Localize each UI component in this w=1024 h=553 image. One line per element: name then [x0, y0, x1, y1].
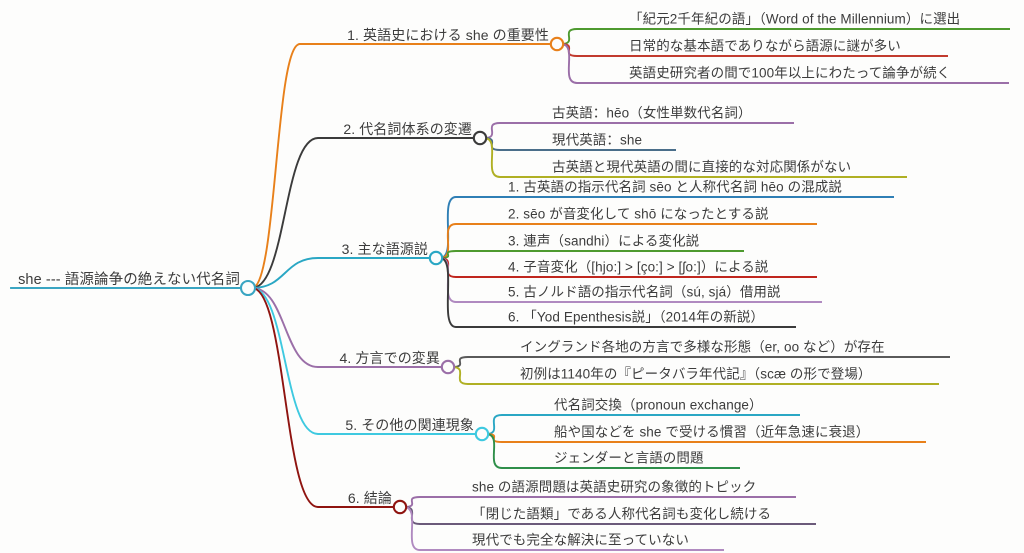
leaf-label-etymology-theories-2[interactable]: 3. 連声（sandhi）による変化説 — [508, 234, 699, 248]
leaf-edge-pronoun-system-2 — [484, 138, 500, 177]
branch-label-related-phenomena[interactable]: 5. その他の関連現象 — [345, 418, 474, 432]
leaf-label-pronoun-system-1[interactable]: 現代英語：she — [552, 133, 642, 147]
leaf-label-related-phenomena-2[interactable]: ジェンダーと言語の問題 — [554, 451, 704, 465]
leaf-label-dialect-variation-0[interactable]: イングランド各地の方言で多様な形態（er, oo など）が存在 — [520, 340, 885, 354]
leaf-label-related-phenomena-1[interactable]: 船や国などを she で受ける慣習（近年急速に衰退） — [554, 425, 869, 439]
leaf-label-etymology-theories-1[interactable]: 2. sēo が音変化して shō になったとする説 — [508, 207, 769, 221]
root-node[interactable] — [241, 281, 255, 295]
branch-label-pronoun-system[interactable]: 2. 代名詞体系の変遷 — [343, 122, 472, 136]
leaf-label-importance-1[interactable]: 日常的な基本語でありながら語源に謎が多い — [629, 39, 901, 53]
leaf-edge-importance-2 — [561, 44, 577, 83]
branch-node-importance[interactable] — [551, 38, 563, 50]
leaf-edge-conclusion-2 — [404, 507, 420, 550]
leaf-label-related-phenomena-0[interactable]: 代名詞交換（pronoun exchange） — [554, 398, 763, 412]
leaf-edge-etymology-theories-5 — [440, 258, 456, 327]
branch-label-etymology-theories[interactable]: 3. 主な語源説 — [342, 242, 428, 256]
leaf-label-etymology-theories-5[interactable]: 6. 「Yod Epenthesis説」（2014年の新説） — [508, 310, 764, 324]
leaf-label-conclusion-2[interactable]: 現代でも完全な解決に至っていない — [472, 533, 689, 547]
branch-edge-related-phenomena — [252, 288, 318, 434]
leaf-label-etymology-theories-0[interactable]: 1. 古英語の指示代名詞 sēo と人称代名詞 hēo の混成説 — [508, 180, 842, 194]
branch-node-etymology-theories[interactable] — [430, 252, 442, 264]
branch-node-dialect-variation[interactable] — [442, 361, 454, 373]
branch-edge-dialect-variation — [252, 288, 318, 367]
branch-edge-pronoun-system — [252, 138, 318, 288]
leaf-label-etymology-theories-3[interactable]: 4. 子音変化（[hjo:] > [ço:] > [ʃo:]）による説 — [508, 260, 768, 274]
leaf-label-conclusion-1[interactable]: 「閉じた語類」である人称代名詞も変化し続ける — [472, 507, 771, 521]
leaf-label-importance-0[interactable]: 「紀元2千年紀の語」（Word of the Millennium）に選出 — [629, 12, 960, 26]
branch-node-related-phenomena[interactable] — [476, 428, 488, 440]
branch-label-conclusion[interactable]: 6. 結論 — [348, 491, 392, 505]
branch-label-dialect-variation[interactable]: 4. 方言での変異 — [340, 351, 440, 365]
leaf-label-conclusion-0[interactable]: she の語源問題は英語史研究の象徴的トピック — [472, 480, 756, 494]
mindmap-canvas: she --- 語源論争の絶えない代名詞1. 英語史における she の重要性「… — [0, 0, 1024, 553]
leaf-label-pronoun-system-2[interactable]: 古英語と現代英語の間に直接的な対応関係がない — [552, 160, 851, 174]
leaf-label-pronoun-system-0[interactable]: 古英語：hēo（女性単数代名詞） — [552, 106, 752, 120]
root-node-label[interactable]: she --- 語源論争の絶えない代名詞 — [18, 273, 240, 288]
leaf-edge-related-phenomena-2 — [486, 434, 502, 468]
branch-label-importance[interactable]: 1. 英語史における she の重要性 — [347, 28, 549, 42]
branch-node-pronoun-system[interactable] — [474, 132, 486, 144]
leaf-label-dialect-variation-1[interactable]: 初例は1140年の『ピータバラ年代記』（scæ の形で登場） — [520, 367, 872, 381]
leaf-label-importance-2[interactable]: 英語史研究者の間で100年以上にわたって論争が続く — [629, 66, 950, 80]
leaf-label-etymology-theories-4[interactable]: 5. 古ノルド語の指示代名詞（sú, sjá）借用説 — [508, 285, 781, 299]
branch-edge-conclusion — [252, 288, 318, 507]
branch-node-conclusion[interactable] — [394, 501, 406, 513]
